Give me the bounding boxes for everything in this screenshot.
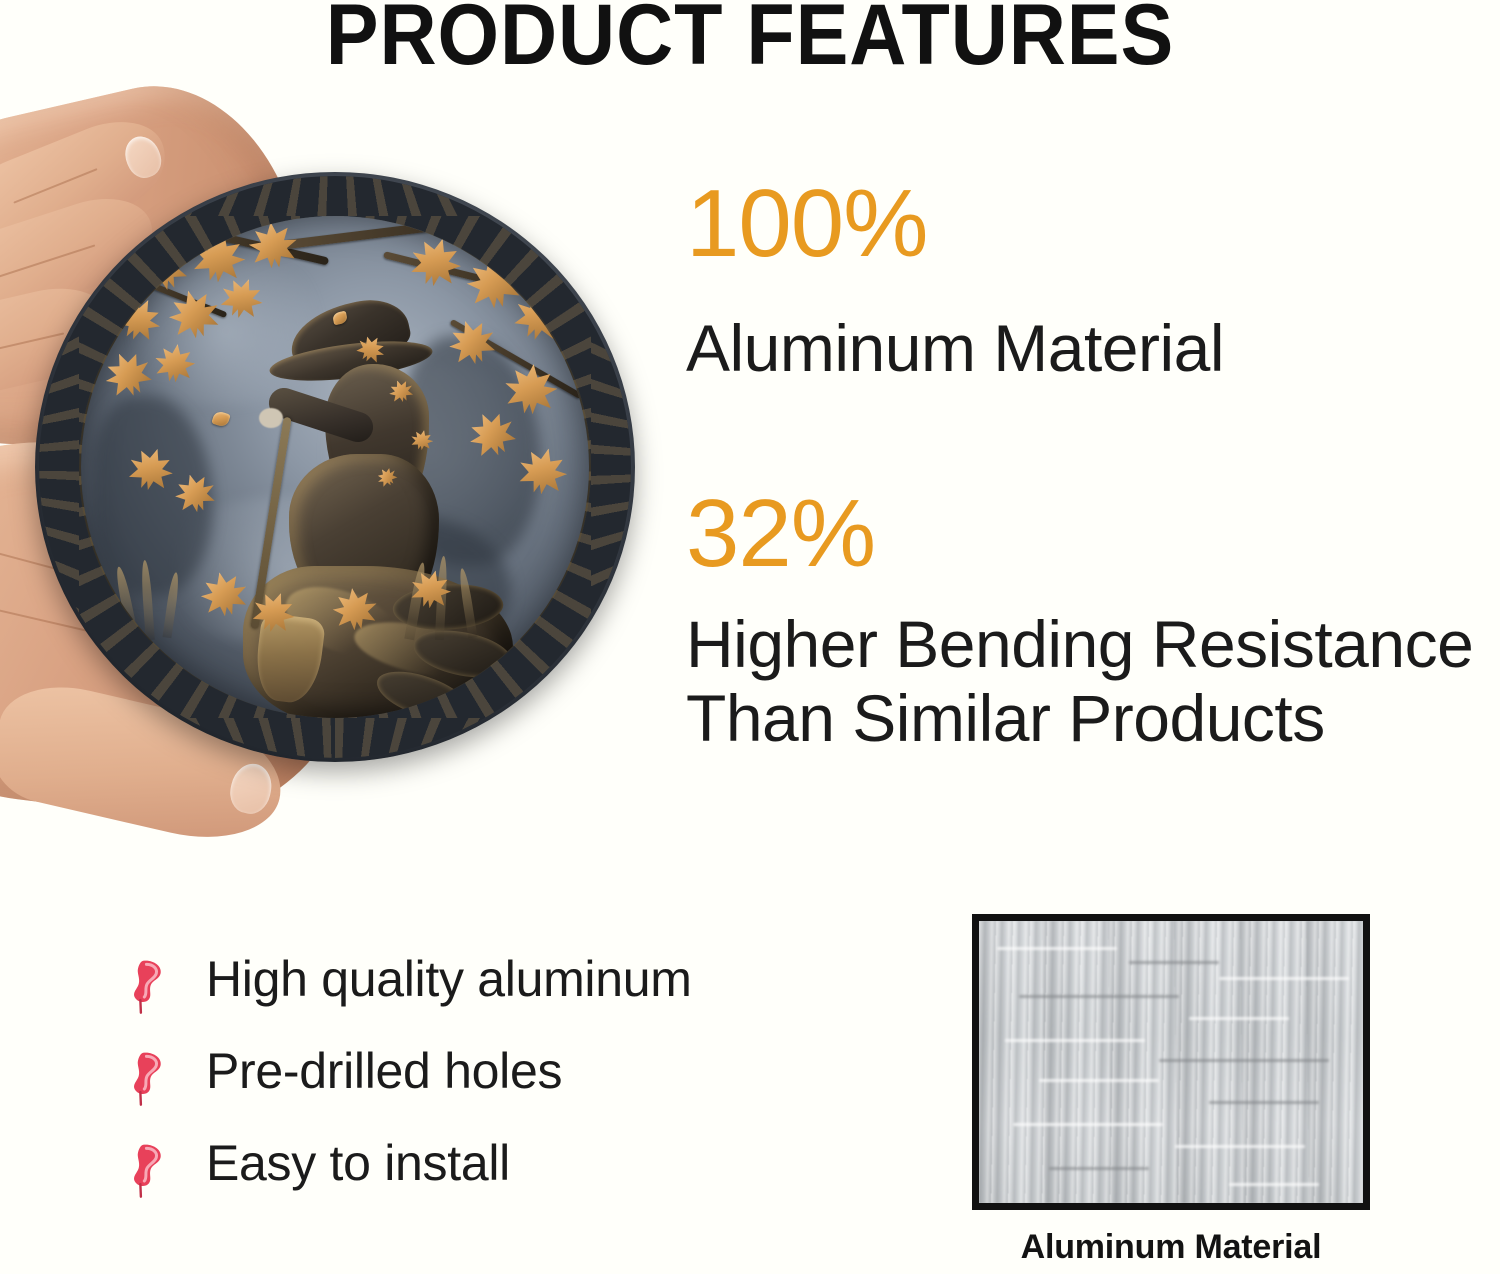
swatch-caption: Aluminum Material (972, 1228, 1370, 1267)
fingernail (119, 131, 166, 183)
metal-streak (1159, 1059, 1329, 1062)
falling-leaf (211, 410, 231, 428)
page-title: PRODUCT FEATURES (60, 0, 1440, 85)
stat-label-bending: Higher Bending Resistance Than Similar P… (686, 608, 1473, 756)
metal-streak (1209, 1101, 1319, 1104)
stat-percentage-aluminum: 100% (686, 176, 928, 272)
product-photo (0, 96, 660, 806)
brushed-aluminum-texture (979, 921, 1363, 1203)
feature-bullet-list: High quality aluminum Pre-drilled holes (118, 952, 878, 1228)
list-item-label: Pre-drilled holes (206, 1042, 562, 1100)
metal-streak (1229, 1183, 1319, 1186)
finger-crease (0, 332, 64, 361)
witch-figure (251, 304, 501, 718)
sign-scene (81, 216, 589, 718)
list-item: Easy to install (118, 1136, 878, 1228)
metal-streak (1049, 1167, 1149, 1170)
list-item: Pre-drilled holes (118, 1044, 878, 1136)
thumbnail (226, 760, 276, 818)
metal-streak (1019, 995, 1179, 998)
round-wall-sign (35, 172, 635, 762)
metal-streak (1005, 1039, 1145, 1042)
witch-hand (259, 408, 283, 428)
stat-label-aluminum: Aluminum Material (686, 312, 1224, 386)
stat-label-bending-line2: Than Similar Products (686, 682, 1473, 756)
aluminum-material-swatch (972, 914, 1370, 1210)
metal-streak (1013, 1123, 1163, 1126)
pushpin-icon (124, 1142, 168, 1198)
metal-streak (1219, 977, 1349, 980)
metal-streak (1189, 1017, 1289, 1020)
pushpin-icon (124, 1050, 168, 1106)
product-features-infographic: PRODUCT FEATURES (0, 0, 1500, 1274)
stat-label-bending-line1: Higher Bending Resistance (686, 608, 1473, 682)
finger-crease (13, 168, 97, 204)
list-item-label: High quality aluminum (206, 950, 692, 1008)
pushpin-icon (124, 958, 168, 1014)
stat-percentage-bending: 32% (686, 486, 875, 582)
metal-streak (1039, 1079, 1159, 1082)
list-item-label: Easy to install (206, 1134, 510, 1192)
metal-streak (997, 947, 1117, 950)
metal-streak (1129, 961, 1219, 964)
list-item: High quality aluminum (118, 952, 878, 1044)
finger-crease (0, 244, 95, 280)
metal-streak (1175, 1145, 1305, 1148)
